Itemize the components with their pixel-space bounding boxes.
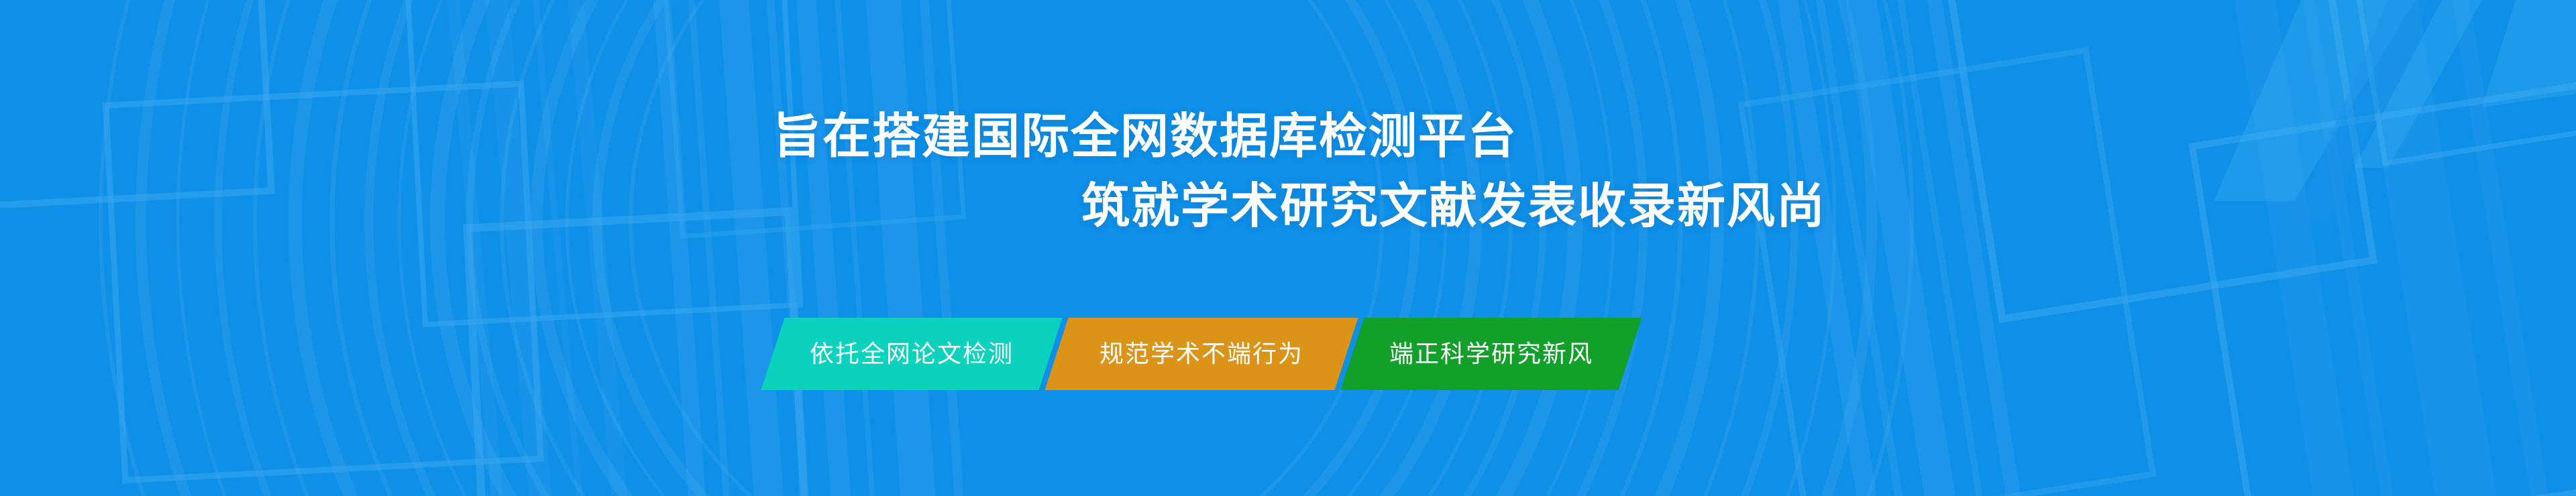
feature-tag-label: 规范学术不端行为 xyxy=(1099,342,1303,366)
feature-tag-row: 依托全网论文检测 规范学术不端行为 端正科学研究新风 xyxy=(773,318,1630,390)
background-right-rect-outlines xyxy=(0,0,2576,496)
background-corner-wedges xyxy=(0,0,2576,496)
background-arc-rings xyxy=(0,0,2576,496)
background-left-light-bands xyxy=(0,0,2576,496)
headline-block: 旨在搭建国际全网数据库检测平台 筑就学术研究文献发表收录新风尚 xyxy=(0,102,2576,241)
promo-banner: 旨在搭建国际全网数据库检测平台 筑就学术研究文献发表收录新风尚 依托全网论文检测… xyxy=(0,0,2576,496)
feature-tag-detection[interactable]: 依托全网论文检测 xyxy=(761,318,1062,390)
feature-tag-research-ethos[interactable]: 端正科学研究新风 xyxy=(1340,318,1642,390)
feature-tag-label: 依托全网论文检测 xyxy=(810,342,1014,366)
background-left-rect-outlines xyxy=(0,0,2576,496)
headline-line-2: 筑就学术研究文献发表收录新风尚 xyxy=(1081,172,2576,241)
headline-line-1: 旨在搭建国际全网数据库检测平台 xyxy=(773,102,2576,172)
feature-tag-label: 端正科学研究新风 xyxy=(1389,342,1593,366)
feature-tag-misconduct[interactable]: 规范学术不端行为 xyxy=(1044,318,1358,390)
